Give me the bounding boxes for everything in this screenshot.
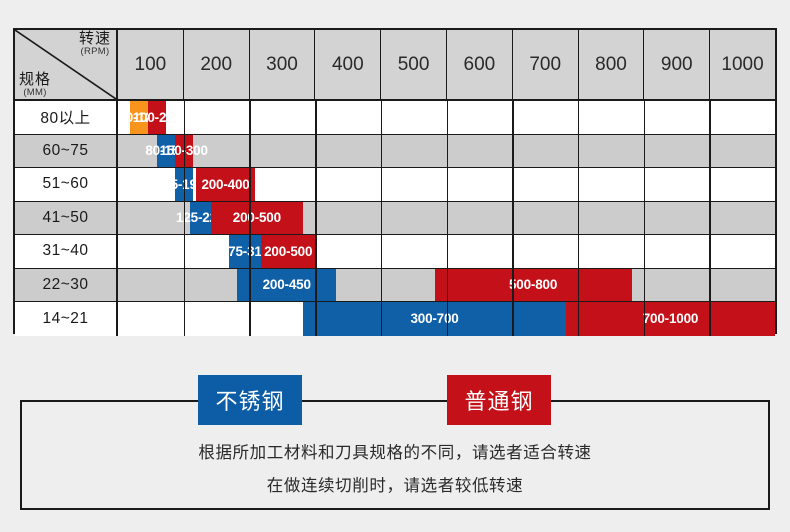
- gridline: [315, 101, 317, 134]
- range-bar-red: 500-800: [435, 269, 632, 302]
- spec-cell: 31~40: [15, 235, 118, 268]
- gridline: [644, 235, 646, 268]
- table-row: 41~50125-225200-500: [15, 202, 775, 236]
- rpm-axis-title: 转速: [79, 31, 111, 47]
- rpm-column-header-200: 200: [184, 30, 250, 99]
- rpm-column-headers: 1002003004005006007008009001000: [118, 30, 775, 99]
- rpm-column-header-1000: 1000: [710, 30, 775, 99]
- table-row: 14~21300-700700-1000: [15, 302, 775, 336]
- spec-cell: 80以上: [15, 101, 118, 134]
- gridline: [644, 168, 646, 201]
- rpm-column-header-600: 600: [447, 30, 513, 99]
- gridline: [249, 302, 251, 336]
- gridline: [644, 269, 646, 302]
- row-bar-area: 95-195200-400: [118, 168, 775, 201]
- gridline: [578, 235, 580, 268]
- gridline: [709, 202, 711, 235]
- gridline: [315, 135, 317, 168]
- gridline: [381, 235, 383, 268]
- row-bar-area: 80-150150-300: [118, 135, 775, 168]
- row-bar-area: 125-225200-500: [118, 202, 775, 235]
- gridline: [644, 135, 646, 168]
- rpm-column-header-700: 700: [513, 30, 579, 99]
- spec-axis-title: 规格: [19, 72, 51, 88]
- gridline: [447, 101, 449, 134]
- speed-spec-table: 转速 (RPM) 规格 (MM) 10020030040050060070080…: [13, 28, 777, 334]
- row-bar-area: 300-700700-1000: [118, 302, 775, 336]
- gridline: [315, 235, 317, 268]
- spec-cell: 51~60: [15, 168, 118, 201]
- gridline: [578, 168, 580, 201]
- range-bar-blue: 300-700: [303, 302, 566, 336]
- row-bar-area: 60-120100-200: [118, 101, 775, 134]
- gridline: [578, 135, 580, 168]
- gridline: [447, 235, 449, 268]
- rpm-column-header-900: 900: [644, 30, 710, 99]
- range-bar-blue: 95-195: [175, 168, 193, 201]
- gridline: [315, 168, 317, 201]
- gridline: [512, 202, 514, 235]
- spec-cell: 14~21: [15, 302, 118, 336]
- gridline: [709, 269, 711, 302]
- gridline: [447, 168, 449, 201]
- spec-cell: 60~75: [15, 135, 118, 168]
- spec-cell: 22~30: [15, 269, 118, 302]
- column-gridlines: [118, 235, 775, 268]
- rpm-axis-unit: (RPM): [79, 47, 111, 57]
- gridline: [578, 202, 580, 235]
- table-row: 80以上60-120100-200: [15, 101, 775, 135]
- gridline: [249, 101, 251, 134]
- spec-cell: 41~50: [15, 202, 118, 235]
- gridline: [381, 168, 383, 201]
- gridline: [709, 235, 711, 268]
- gridline: [184, 101, 186, 134]
- gridline: [381, 101, 383, 134]
- gridline: [512, 135, 514, 168]
- legend-badge-stainless-steel: 不锈钢: [198, 375, 302, 425]
- row-bar-area: 200-450500-800: [118, 269, 775, 302]
- gridline: [512, 235, 514, 268]
- range-bar-red: 700-1000: [566, 302, 775, 336]
- table-row: 22~30200-450500-800: [15, 269, 775, 303]
- table-row: 60~7580-150150-300: [15, 135, 775, 169]
- gridline: [184, 302, 186, 336]
- gridline: [447, 202, 449, 235]
- column-gridlines: [118, 135, 775, 168]
- range-bar-red: 150-300: [175, 135, 193, 168]
- rpm-axis-label: 转速 (RPM): [79, 31, 111, 57]
- gridline: [184, 235, 186, 268]
- rpm-column-header-800: 800: [579, 30, 645, 99]
- legend-badge-common-steel: 普通钢: [447, 375, 551, 425]
- gridline: [184, 269, 186, 302]
- gridline: [315, 202, 317, 235]
- gridline: [381, 269, 383, 302]
- range-bar-red: 100-200: [148, 101, 166, 134]
- table-row: 31~40175-315200-500: [15, 235, 775, 269]
- gridline: [249, 135, 251, 168]
- range-bar-red: 200-500: [261, 235, 315, 268]
- gridline: [512, 168, 514, 201]
- gridline: [447, 135, 449, 168]
- gridline: [381, 135, 383, 168]
- spec-axis-label: 规格 (MM): [19, 72, 51, 98]
- rpm-column-header-300: 300: [250, 30, 316, 99]
- range-bar-blue: 175-315: [229, 235, 262, 268]
- table-header-row: 转速 (RPM) 规格 (MM) 10020030040050060070080…: [15, 30, 775, 101]
- table-body: 80以上60-120100-20060~7580-150150-30051~60…: [15, 101, 775, 336]
- row-bar-area: 175-315200-500: [118, 235, 775, 268]
- range-bar-red: 200-500: [211, 202, 304, 235]
- note-line-2: 在做连续切削时，请选者较低转速: [22, 472, 768, 496]
- gridline: [381, 202, 383, 235]
- range-bar-blue: 125-225: [190, 202, 211, 235]
- gridline: [709, 101, 711, 134]
- range-bar-blue: 200-450: [237, 269, 336, 302]
- gridline: [644, 202, 646, 235]
- table-corner-cell: 转速 (RPM) 规格 (MM): [15, 30, 118, 99]
- gridline: [512, 101, 514, 134]
- note-box: 根据所加工材料和刀具规格的不同，请选者适合转速 在做连续切削时，请选者较低转速: [20, 400, 770, 510]
- column-gridlines: [118, 101, 775, 134]
- gridline: [644, 101, 646, 134]
- table-row: 51~6095-195200-400: [15, 168, 775, 202]
- infographic-root: 转速 (RPM) 规格 (MM) 10020030040050060070080…: [0, 0, 790, 532]
- spec-axis-unit: (MM): [19, 88, 51, 98]
- range-bar-red: 200-400: [196, 168, 256, 201]
- rpm-column-header-400: 400: [315, 30, 381, 99]
- note-line-1: 根据所加工材料和刀具规格的不同，请选者适合转速: [22, 439, 768, 463]
- gridline: [709, 135, 711, 168]
- rpm-column-header-500: 500: [381, 30, 447, 99]
- gridline: [709, 168, 711, 201]
- rpm-column-header-100: 100: [118, 30, 184, 99]
- gridline: [578, 101, 580, 134]
